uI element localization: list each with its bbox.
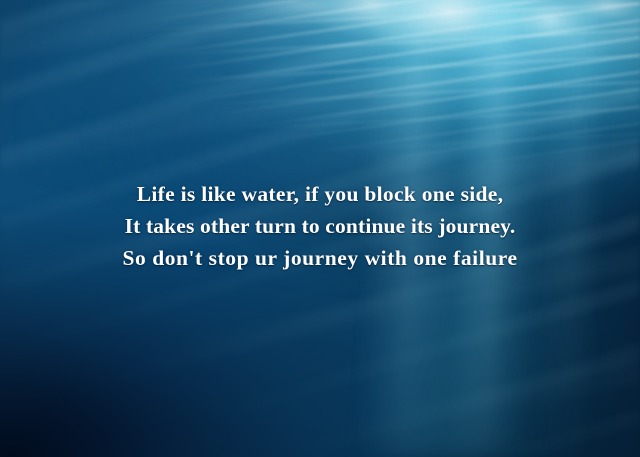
surface-ripple-streaks xyxy=(0,0,640,175)
quote-overlay: Life is like water, if you block one sid… xyxy=(0,178,640,274)
underwater-quote-image: Life is like water, if you block one sid… xyxy=(0,0,640,457)
quote-line-2: It takes other turn to continue its jour… xyxy=(0,210,640,242)
quote-line-3: So don't stop ur journey with one failur… xyxy=(0,242,640,274)
quote-line-1: Life is like water, if you block one sid… xyxy=(0,178,640,210)
water-surface-caustics xyxy=(0,0,640,200)
